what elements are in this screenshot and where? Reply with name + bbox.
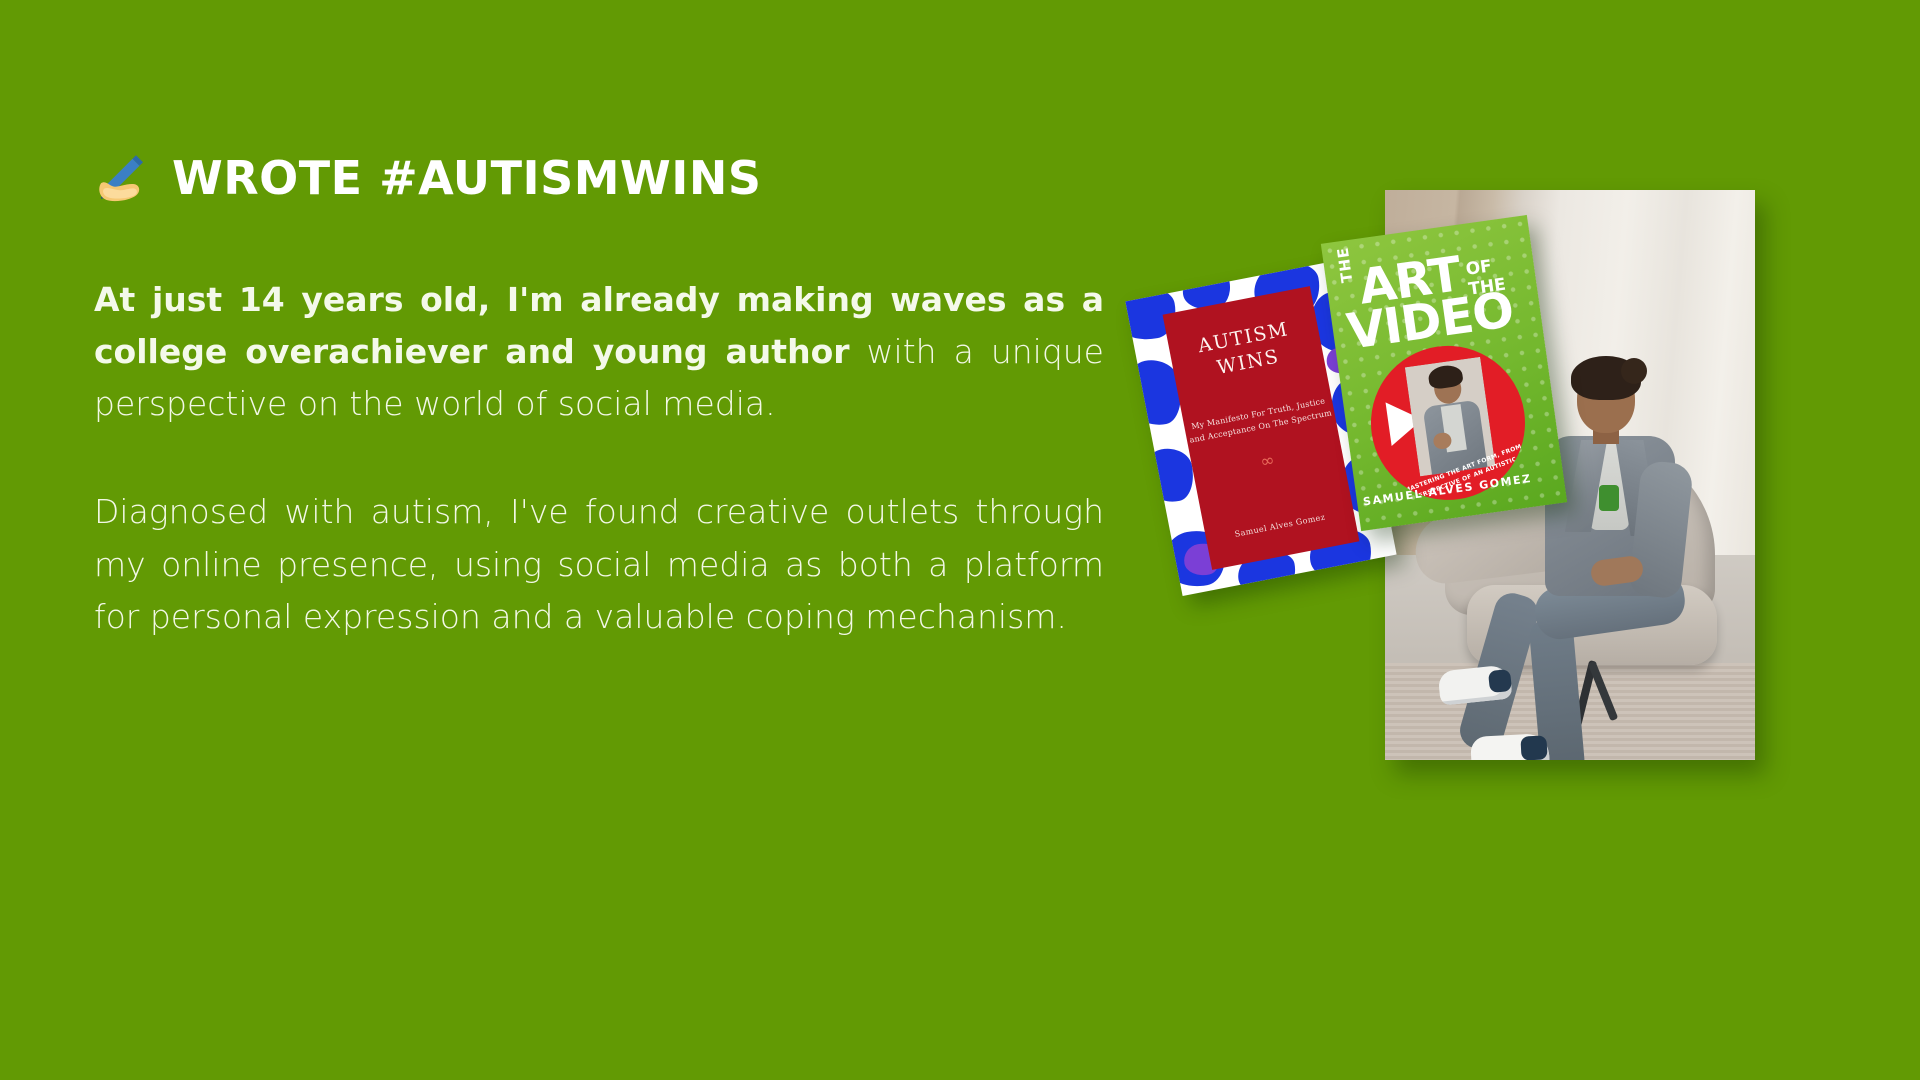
figure-shoe-heel <box>1520 735 1547 760</box>
slide-root: WROTE #AUTISMWINS At just 14 years old, … <box>0 0 1920 1080</box>
page-title-text: WROTE #AUTISMWINS <box>172 155 762 201</box>
book-cover-art-of-the-video: THE ART OF THE VIDEO MASTERING THE ART F… <box>1321 215 1567 531</box>
page-title: WROTE #AUTISMWINS <box>94 150 1094 206</box>
figure-shoe-heel <box>1488 669 1512 693</box>
figure-shirt-graphic <box>1599 485 1619 511</box>
writing-hand-icon <box>94 150 150 206</box>
book-author: Samuel Alves Gomez <box>1234 512 1326 538</box>
figure-hair-bun <box>1621 358 1647 384</box>
infinity-symbol-icon: ∞ <box>1259 450 1277 472</box>
paragraph-two: Diagnosed with autism, I've found creati… <box>94 486 1104 642</box>
media-composition: AUTISM WINS My Manifesto For Truth, Just… <box>1150 150 1920 980</box>
book-subtitle: My Manifesto For Truth, Justice and Acce… <box>1184 394 1336 448</box>
paragraph-one: At just 14 years old, I'm already making… <box>94 274 1104 430</box>
book-word-the: THE <box>1334 246 1357 284</box>
text-column: WROTE #AUTISMWINS At just 14 years old, … <box>94 150 1094 643</box>
book-title: AUTISM WINS <box>1196 317 1296 384</box>
